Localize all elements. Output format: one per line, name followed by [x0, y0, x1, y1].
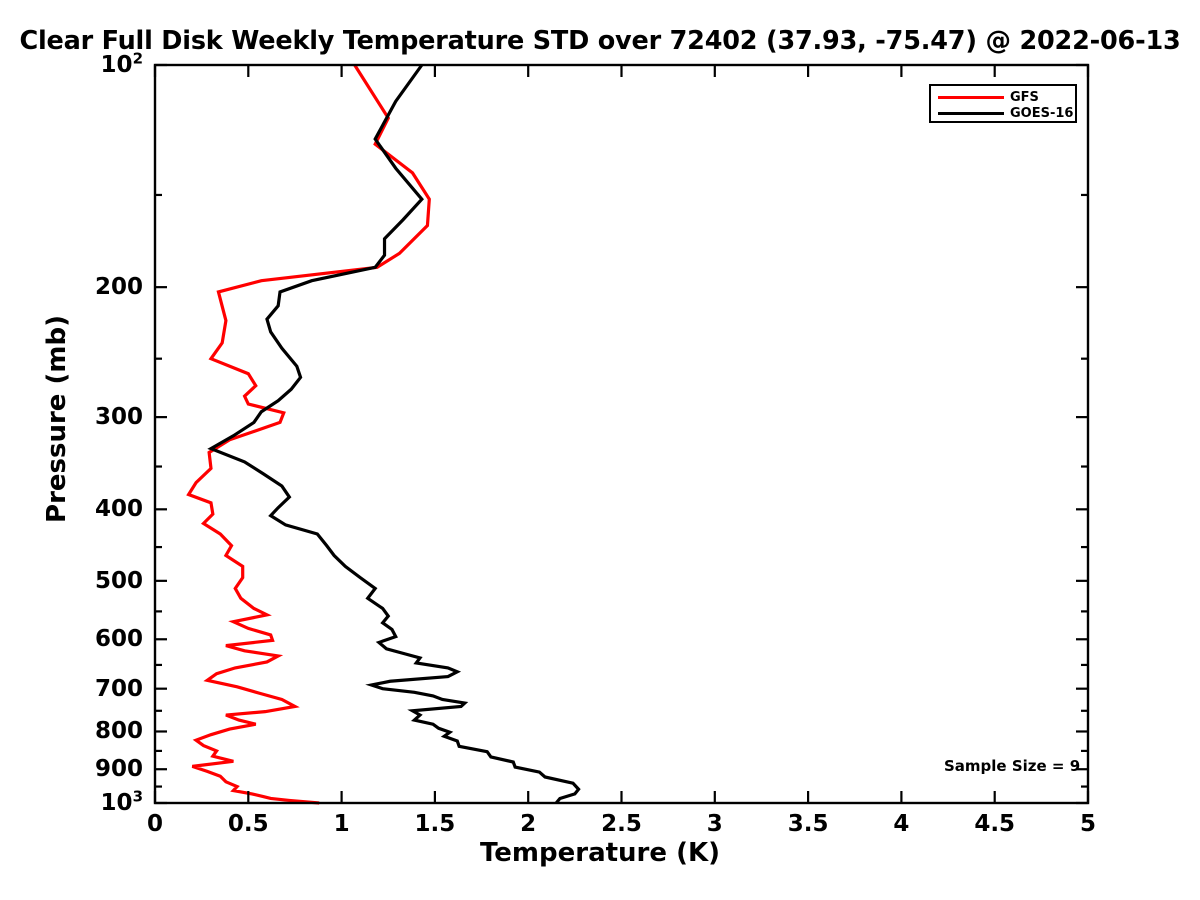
x-tick-label-8: 4 [893, 811, 909, 837]
y-tick-label-1000: 103 [0, 790, 143, 816]
series-line-gfs [189, 65, 430, 803]
plot-area [155, 65, 1088, 803]
x-tick-label-6: 3 [707, 811, 723, 837]
y-tick-label-800: 800 [0, 718, 143, 744]
axes-frame [155, 65, 1088, 803]
x-tick-label-2: 1 [334, 811, 350, 837]
x-tick-label-0: 0 [147, 811, 163, 837]
y-tick-label-100: 102 [0, 52, 143, 78]
x-tick-label-9: 4.5 [974, 811, 1015, 837]
axis-ticks [155, 65, 1088, 803]
legend-swatch-gfs [938, 96, 1004, 99]
legend-swatch-goes16 [938, 112, 1004, 115]
data-series-group [189, 65, 579, 803]
legend-item-goes16[interactable]: GOES-16 [931, 105, 1079, 122]
x-tick-label-4: 2 [520, 811, 536, 837]
y-tick-label-900: 900 [0, 756, 143, 782]
x-tick-label-3: 1.5 [415, 811, 456, 837]
chart-figure: Clear Full Disk Weekly Temperature STD o… [0, 0, 1200, 900]
series-line-goes-16 [211, 65, 579, 803]
legend[interactable]: GFS GOES-16 [929, 84, 1077, 123]
chart-title: Clear Full Disk Weekly Temperature STD o… [0, 26, 1200, 56]
y-tick-label-700: 700 [0, 676, 143, 702]
x-tick-label-5: 2.5 [601, 811, 642, 837]
plot-frame [155, 65, 1088, 803]
x-tick-label-1: 0.5 [228, 811, 269, 837]
plot-svg [155, 65, 1088, 803]
legend-label-gfs: GFS [1010, 90, 1039, 105]
y-axis-title: Pressure (mb) [42, 169, 72, 669]
x-tick-label-10: 5 [1080, 811, 1096, 837]
sample-size-annotation: Sample Size = 9 [944, 757, 1080, 775]
x-axis-title: Temperature (K) [0, 838, 1200, 868]
x-tick-label-7: 3.5 [788, 811, 829, 837]
legend-item-gfs[interactable]: GFS [931, 89, 1079, 106]
legend-label-goes16: GOES-16 [1010, 106, 1073, 121]
